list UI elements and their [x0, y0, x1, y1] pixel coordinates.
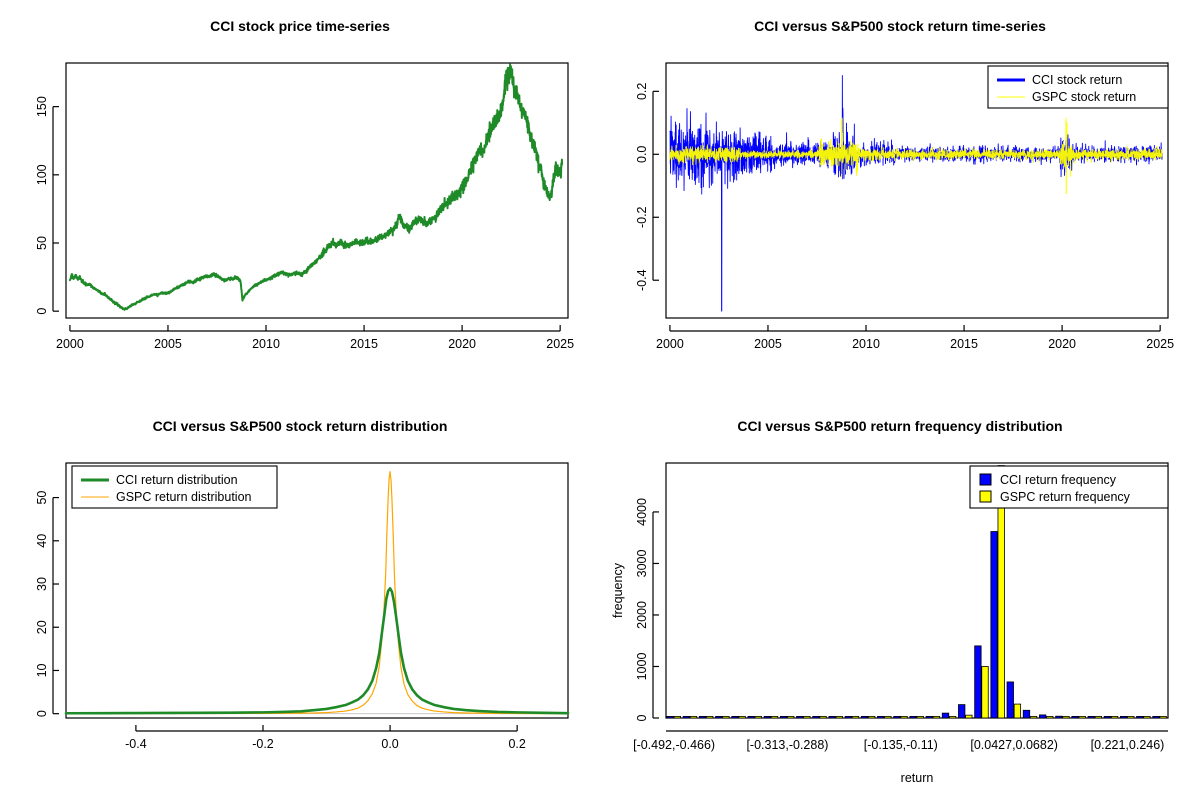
x-tick-label: -0.2 — [252, 737, 274, 751]
histogram-bar — [949, 716, 955, 718]
x-tick-label: 2000 — [656, 337, 684, 351]
y-tick-label: -0.2 — [635, 206, 649, 228]
histogram-bar — [748, 716, 754, 718]
panel-cci-vs-gspc-return-frequency: CCI versus S&P500 return frequency distr… — [600, 400, 1200, 800]
histogram-bar — [845, 716, 851, 718]
histogram-bar — [706, 716, 712, 718]
legend-entry-label: CCI stock return — [1032, 73, 1122, 87]
x-tick-label: 2025 — [546, 337, 574, 351]
histogram-bar — [683, 716, 689, 718]
legend-entry-label: CCI return distribution — [116, 473, 238, 487]
cci-return-line — [670, 75, 1162, 311]
panel-cci-vs-gspc-return-distribution: CCI versus S&P500 stock return distribut… — [0, 400, 600, 800]
y-tick-label: 50 — [35, 491, 49, 505]
x-tick-label: 2005 — [754, 337, 782, 351]
x-tick-label: 2015 — [350, 337, 378, 351]
gspc-return-line-overlay — [670, 118, 1162, 194]
y-tick-label: 0.0 — [635, 146, 649, 163]
histogram-bar — [1014, 704, 1020, 718]
cci-density-line — [66, 588, 568, 713]
cci-price-line — [70, 64, 562, 309]
histogram-bar — [966, 715, 972, 718]
histogram-bar — [829, 716, 835, 718]
histogram-bar — [699, 716, 705, 718]
histogram-bar — [1111, 716, 1117, 718]
y-tick-label: 40 — [35, 534, 49, 548]
y-tick-label: 2000 — [635, 601, 649, 629]
y-tick-label: 100 — [35, 164, 49, 185]
y-axis-title: frequency — [611, 562, 625, 618]
histogram-bar — [942, 713, 948, 718]
histogram-bar — [1137, 716, 1143, 718]
histogram-bar — [797, 716, 803, 718]
histogram-bar — [1023, 710, 1029, 718]
histogram-bar — [1104, 716, 1110, 718]
x-tick-label: -0.4 — [125, 737, 147, 751]
histogram-bar — [1030, 716, 1036, 718]
histogram-bar — [787, 716, 793, 718]
y-tick-label: 30 — [35, 577, 49, 591]
histogram-bar — [716, 716, 722, 718]
histogram-bar — [991, 532, 997, 718]
x-tick-label: 2000 — [56, 337, 84, 351]
histogram-bar — [901, 716, 907, 718]
y-tick-label: 0 — [35, 308, 49, 315]
y-tick-label: 4000 — [635, 498, 649, 526]
plot-frame — [66, 63, 568, 318]
y-tick-label: -0.4 — [635, 269, 649, 291]
histogram-bar — [868, 716, 874, 718]
y-tick-label: 0 — [635, 714, 649, 721]
x-tick-label: [0.221,0.246) — [1091, 738, 1165, 752]
x-tick-label: 2010 — [252, 337, 280, 351]
histogram-bar — [982, 666, 988, 718]
histogram-bar — [1153, 716, 1159, 718]
figure-canvas: CCI stock price time-series 200020052010… — [0, 0, 1200, 800]
panel-2-plot: 200020052010201520202025-0.4-0.20.00.2CC… — [600, 0, 1200, 400]
histogram-bar — [732, 716, 738, 718]
x-tick-label: [-0.492,-0.466) — [633, 738, 715, 752]
panel-cci-price-time-series: CCI stock price time-series 200020052010… — [0, 0, 600, 400]
histogram-bar — [813, 716, 819, 718]
histogram-bar — [975, 646, 981, 718]
histogram-bar — [852, 716, 858, 718]
x-tick-label: 2020 — [448, 337, 476, 351]
histogram-bar — [1007, 682, 1013, 718]
histogram-bar — [933, 716, 939, 718]
y-tick-label: 20 — [35, 620, 49, 634]
histogram-bar — [877, 716, 883, 718]
histogram-bar — [667, 716, 673, 718]
y-tick-label: 3000 — [635, 550, 649, 578]
histogram-bar — [820, 716, 826, 718]
histogram-bar — [1120, 716, 1126, 718]
histogram-bar — [1160, 716, 1166, 718]
histogram-bar — [1072, 716, 1078, 718]
panel-cci-vs-gspc-return-time-series: CCI versus S&P500 stock return time-seri… — [600, 0, 1200, 400]
histogram-bar — [1063, 716, 1069, 718]
histogram-bar — [910, 716, 916, 718]
x-tick-label: 0.2 — [508, 737, 525, 751]
y-tick-label: 10 — [35, 663, 49, 677]
y-tick-label: 1000 — [635, 653, 649, 681]
histogram-bar — [804, 716, 810, 718]
histogram-bar — [723, 716, 729, 718]
legend-entry-label: CCI return frequency — [1000, 473, 1117, 487]
histogram-bar — [894, 716, 900, 718]
x-tick-label: 2025 — [1146, 337, 1174, 351]
legend-entry-label: GSPC return distribution — [116, 490, 252, 504]
legend-swatch-square — [980, 491, 991, 502]
histogram-bar — [926, 716, 932, 718]
x-tick-label: 2010 — [852, 337, 880, 351]
histogram-bar — [1088, 716, 1094, 718]
histogram-bar — [739, 716, 745, 718]
x-tick-label: 2020 — [1048, 337, 1076, 351]
histogram-bar — [674, 716, 680, 718]
histogram-bar — [1079, 716, 1085, 718]
panel-4-plot: 01000200030004000[-0.492,-0.466)[-0.313,… — [600, 400, 1200, 800]
histogram-bar — [861, 716, 867, 718]
y-tick-label: 0 — [35, 710, 49, 717]
histogram-bar — [1039, 715, 1045, 718]
histogram-bar — [1047, 716, 1053, 718]
legend-entry-label: GSPC return frequency — [1000, 490, 1131, 504]
x-tick-label: [-0.135,-0.11) — [864, 738, 938, 752]
x-tick-label: 2015 — [950, 337, 978, 351]
histogram-bar — [885, 716, 891, 718]
y-tick-label: 150 — [35, 96, 49, 117]
histogram-bar — [764, 716, 770, 718]
histogram-bar — [1128, 716, 1134, 718]
histogram-bar — [690, 716, 696, 718]
panel-1-plot: 200020052010201520202025050100150 — [0, 0, 600, 400]
histogram-bar — [1095, 716, 1101, 718]
x-tick-label: 2005 — [154, 337, 182, 351]
x-tick-label: [-0.313,-0.288) — [746, 738, 828, 752]
x-axis-title: return — [901, 771, 934, 785]
panel-3-plot: -0.4-0.20.00.201020304050CCI return dist… — [0, 400, 600, 800]
x-tick-label: [0.0427,0.0682) — [970, 738, 1058, 752]
histogram-bar — [1144, 716, 1150, 718]
legend-entry-label: GSPC stock return — [1032, 90, 1136, 104]
histogram-bar — [917, 716, 923, 718]
x-tick-label: 0.0 — [381, 737, 398, 751]
histogram-bar — [780, 716, 786, 718]
y-tick-label: 50 — [35, 236, 49, 250]
histogram-bar — [836, 716, 842, 718]
legend-swatch-square — [980, 474, 991, 485]
histogram-bar — [771, 716, 777, 718]
y-tick-label: 0.2 — [635, 83, 649, 100]
histogram-bar — [1056, 716, 1062, 718]
histogram-bar — [958, 705, 964, 718]
histogram-bar — [755, 716, 761, 718]
